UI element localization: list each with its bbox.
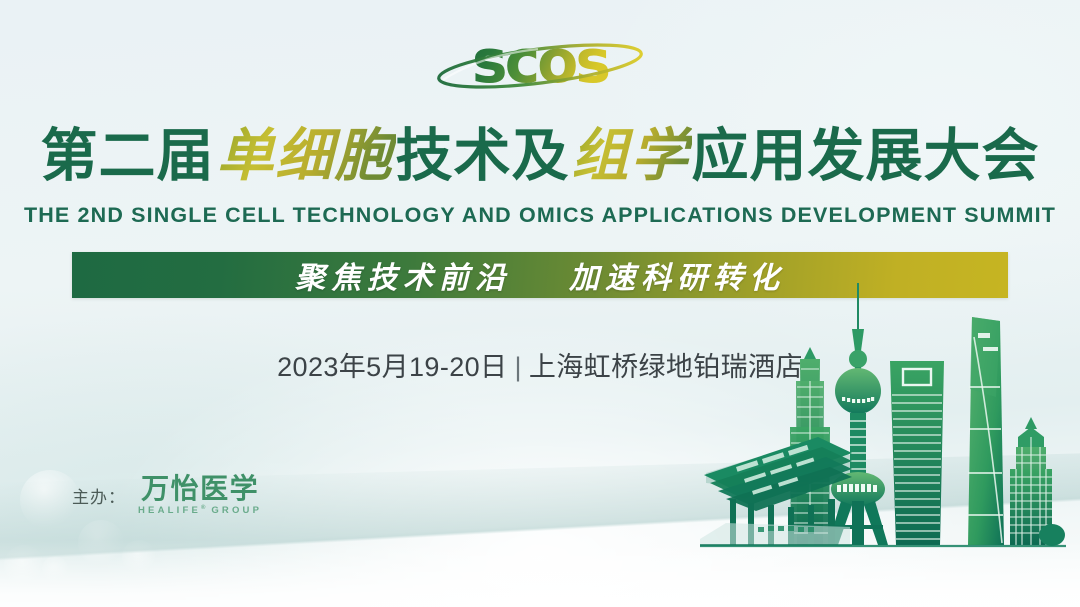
organizer-name-cn: 万怡医学 [141,474,259,503]
title-segment-3: 应用发展大会 [692,124,1040,188]
organizer-block: 主办： 万怡医学 HEALIFE® GROUP [72,474,262,517]
classic-highrise [1010,417,1065,546]
organizer-label: 主办： [72,483,126,508]
shanghai-tower [968,317,1004,545]
organizer-name-en: HEALIFE® GROUP [138,505,262,516]
bokeh-circle [78,520,124,566]
scos-logo: scos [434,22,646,102]
page-title: 第二届单细胞技术及组学应用发展大会 [0,124,1080,189]
oriental-pearl-tower [828,283,888,545]
shanghai-world-financial-center [890,361,944,545]
organizer-brand-en: HEALIFE [138,506,201,517]
organizer-group-en: GROUP [211,506,262,517]
bokeh-circle [122,540,156,574]
event-date: 2023年5月19-20日 [277,352,507,382]
registered-mark: ® [201,505,205,511]
separator: | [507,352,528,382]
page-subtitle-english: THE 2ND SINGLE CELL TECHNOLOGY AND OMICS… [0,203,1080,228]
logo-container: scos [0,22,1080,102]
shanghai-skyline-illustration [700,277,1080,577]
title-segment-2: 技术及 [396,124,570,188]
title-brush-segment-2: 组学 [570,122,692,189]
conference-poster: scos 第二届单细胞技术及组学应用发展大会 THE 2ND SINGLE CE… [0,0,1080,607]
bokeh-circle [42,556,68,582]
healife-logo: 万怡医学 HEALIFE® GROUP [138,474,262,517]
bokeh-circle [20,470,80,530]
bokeh-circle [4,545,44,585]
title-brush-segment-1: 单细胞 [215,122,396,189]
title-segment-1: 第二届 [41,124,215,188]
